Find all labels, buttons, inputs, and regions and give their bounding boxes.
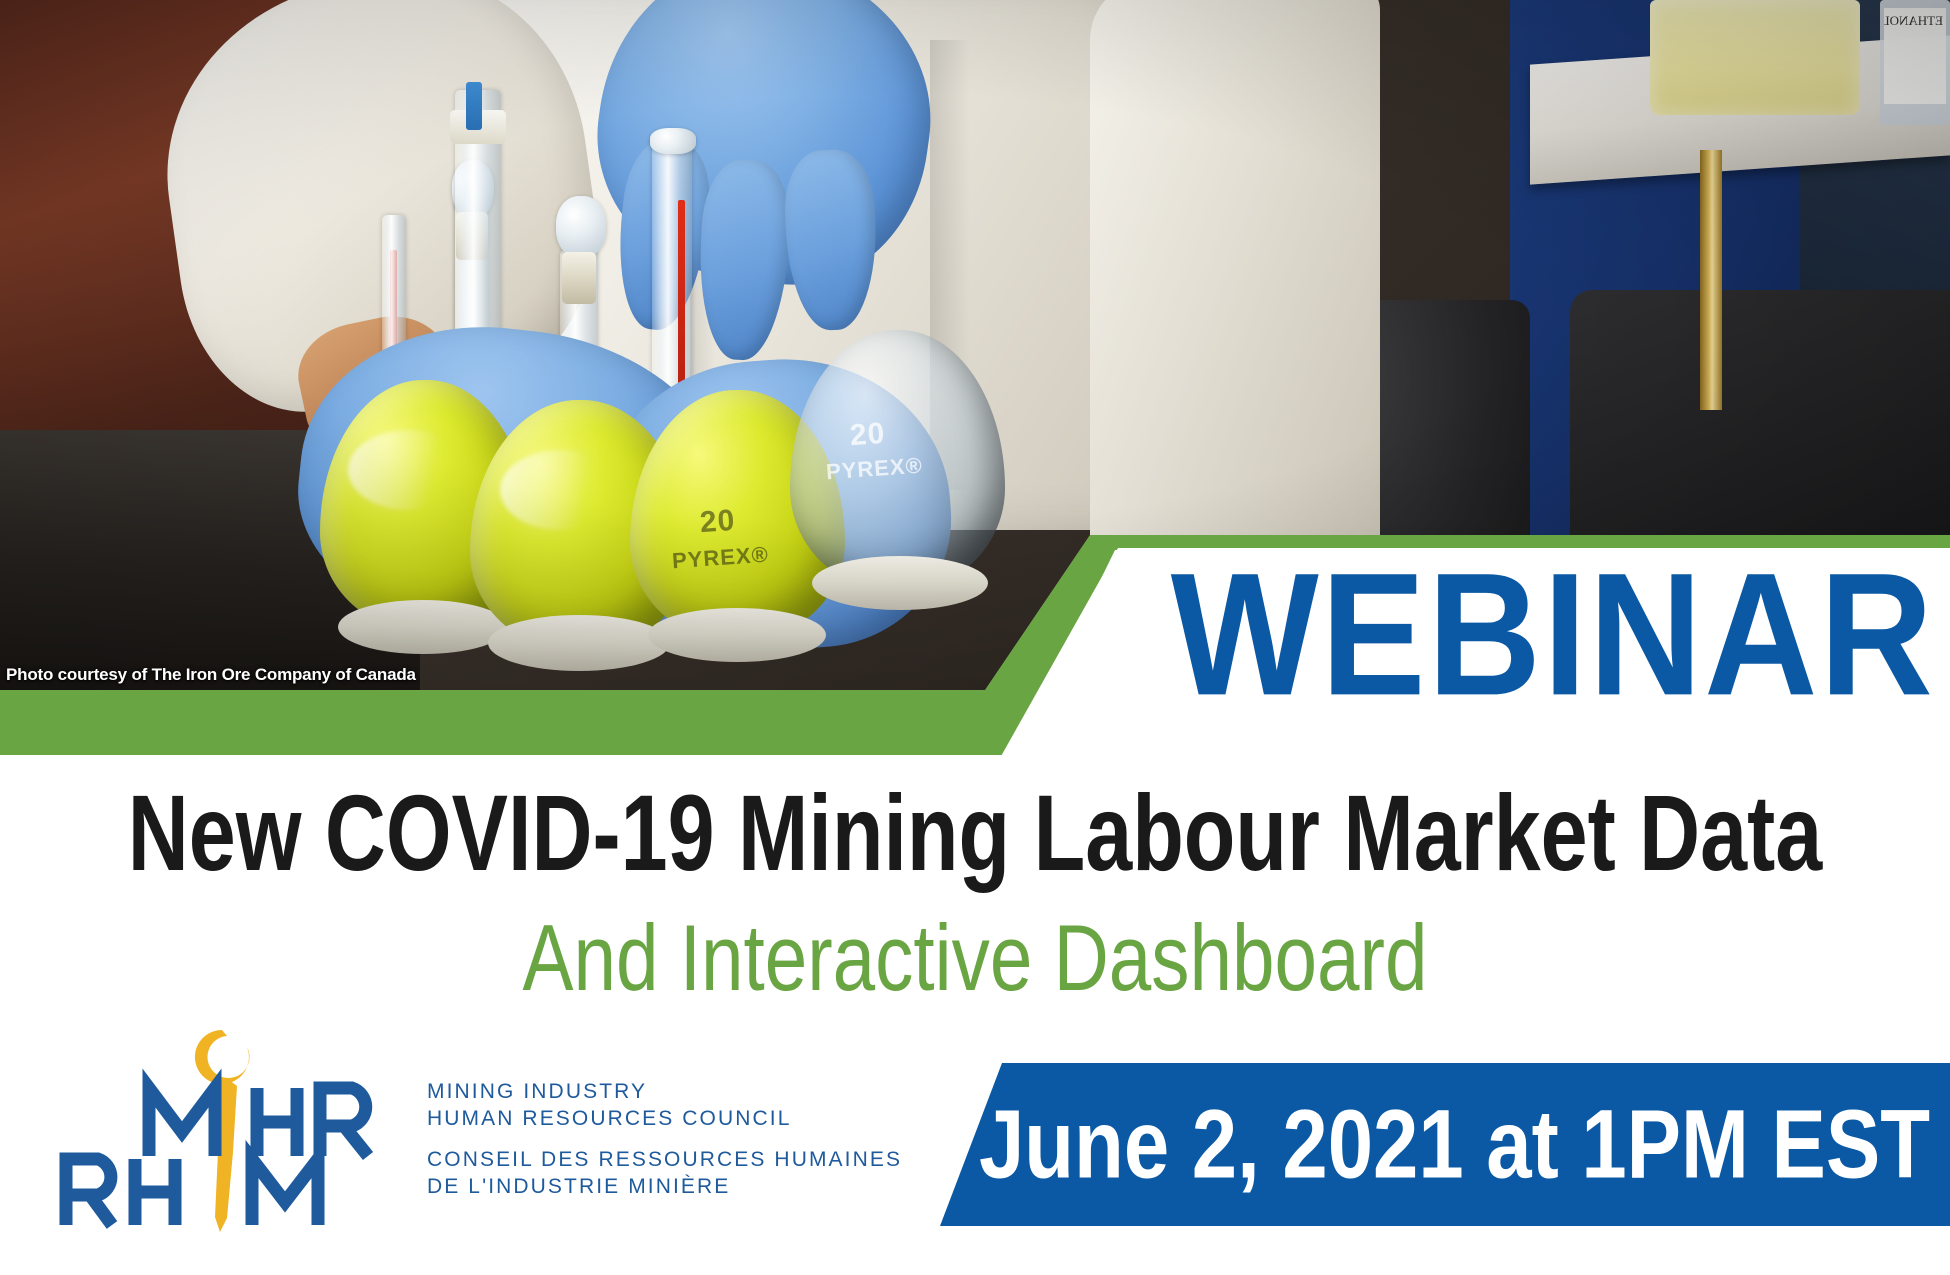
mihr-logo-svg [52, 1020, 382, 1235]
page-title: New COVID-19 Mining Labour Market Data [39, 775, 1911, 892]
webinar-heading: WEBINAR [1045, 541, 1935, 730]
logo-gold-c-icon [195, 1030, 250, 1084]
title-block: New COVID-19 Mining Labour Market Data A… [0, 775, 1950, 991]
org-name-fr-line2: DE L'INDUSTRIE MINIÈRE [427, 1173, 902, 1200]
org-name-en-line1: MINING INDUSTRY [427, 1078, 902, 1105]
org-name-fr-line1: CONSEIL DES RESSOURCES HUMAINES [427, 1146, 902, 1173]
webinar-poster: ETHANOL [0, 0, 1950, 1275]
logo-letter-M-bottom [252, 1159, 318, 1225]
mihr-logo-mark [52, 1020, 382, 1235]
page-subtitle: And Interactive Dashboard [20, 907, 1931, 1008]
logo-letters-RH-bottom [66, 1159, 175, 1225]
logo-letter-M-top [149, 1088, 215, 1156]
mihr-logo-block: MINING INDUSTRY HUMAN RESOURCES COUNCIL … [52, 1020, 932, 1250]
photo-credit: Photo courtesy of The Iron Ore Company o… [0, 660, 424, 690]
event-date-time: June 2, 2021 at 1PM EST [970, 1050, 1930, 1239]
org-name-en-line2: HUMAN RESOURCES COUNCIL [427, 1105, 902, 1132]
org-name-block: MINING INDUSTRY HUMAN RESOURCES COUNCIL … [427, 1078, 902, 1200]
logo-letters-HR-top [257, 1088, 368, 1156]
